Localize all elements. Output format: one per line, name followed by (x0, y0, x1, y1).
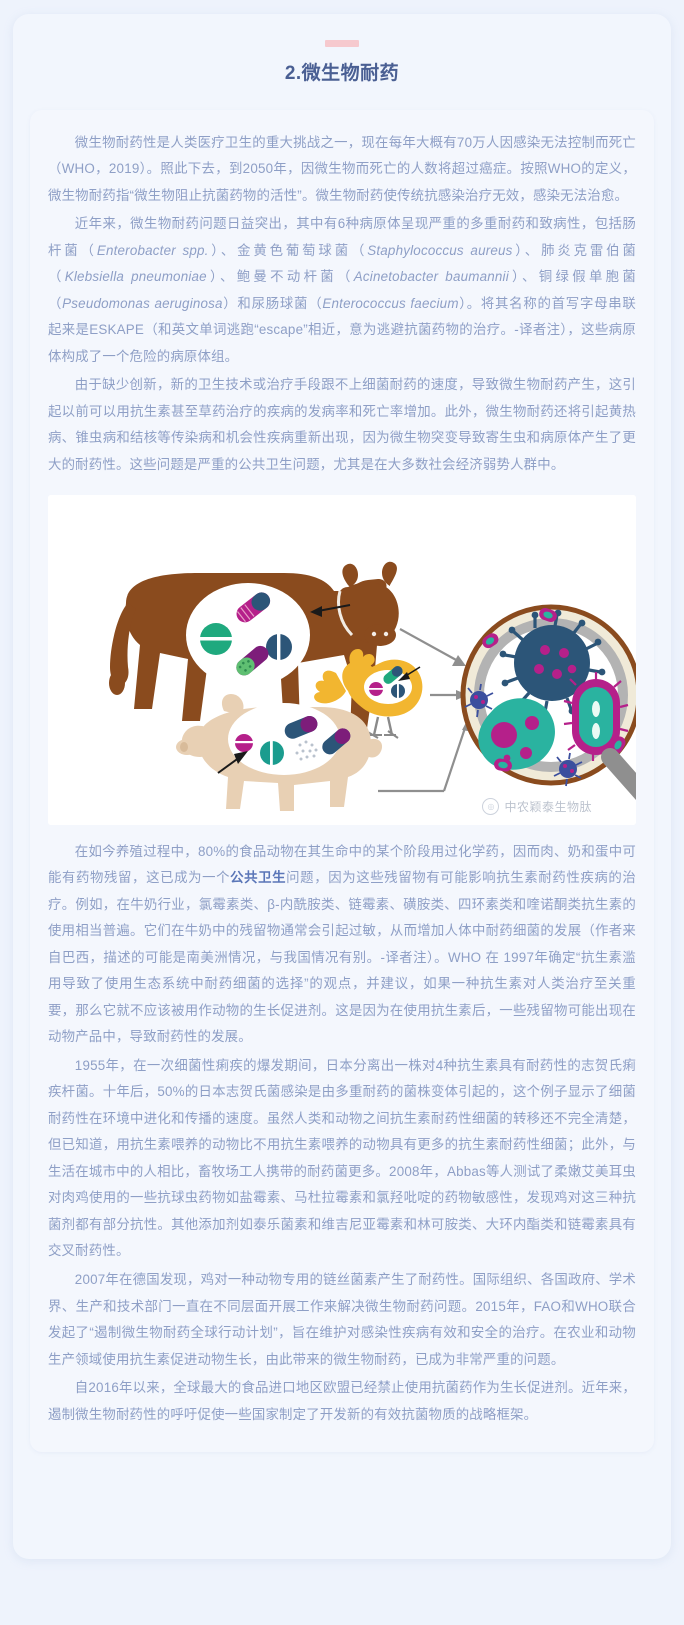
article-card: 2.微生物耐药 微生物耐药性是人类医疗卫生的重大挑战之一，现在每年大概有70万人… (13, 14, 671, 1559)
paragraph-4-highlight: 在如今养殖过程中，80%的食品动物在其生命中的某个阶段用过化学药，因而肉、奶和蛋… (48, 839, 636, 1051)
watermark-logo-icon: ◎ (482, 798, 499, 815)
paragraph-5: 1955年，在一次细菌性痢疾的爆发期间，日本分离出一株对4种抗生素具有耐药性的志… (48, 1053, 636, 1265)
latin-species-name: Staphylococcus aureus (367, 243, 512, 258)
watermark-text: 中农颖泰生物肽 (504, 798, 592, 815)
paragraph-6: 2007年在德国发现，鸡对一种动物专用的链丝菌素产生了耐药性。国际组织、各国政府… (48, 1267, 636, 1373)
paragraph-3: 由于缺少创新，新的卫生技术或治疗手段跟不上细菌耐药的速度，导致微生物耐药产生，这… (48, 372, 636, 478)
livestock-amr-diagram (48, 495, 636, 825)
illustration-figure: ◎ 中农颖泰生物肽 (48, 495, 636, 825)
pink-divider-icon (325, 40, 359, 47)
latin-species-name: Enterococcus faecium (322, 296, 458, 311)
body-text: ）、金黄色葡萄球菌（ (209, 243, 368, 258)
latin-species-name: Enterobacter spp. (97, 243, 209, 258)
body-text: 在如今养殖过程中， (75, 844, 198, 859)
paragraph-7: 自2016年以来，全球最大的食品进口地区欧盟已经禁止使用抗菌药作为生长促进剂。近… (48, 1375, 636, 1428)
watermark: ◎ 中农颖泰生物肽 (482, 798, 592, 815)
paragraph-2: 近年来，微生物耐药问题日益突出，其中有6种病原体呈现严重的多重耐药和致病性，包括… (48, 211, 636, 370)
emphasis-public-health: 公共卫生 (230, 870, 286, 885)
latin-species-name: Acinetobacter baumannii (354, 269, 509, 284)
body-text: ）和尿肠球菌（ (223, 296, 323, 311)
latin-species-name: Klebsiella pneumoniae (65, 269, 207, 284)
page-title: 2.微生物耐药 (13, 61, 671, 88)
article-header: 2.微生物耐药 (13, 14, 671, 88)
latin-species-name: Pseudomonas aeruginosa (62, 296, 223, 311)
body-text: 例如，在牛奶行业，氯霉素类、β-内酰胺类、链霉素、磺胺类、四环素类和喹诺酮类抗生… (48, 897, 636, 1045)
content-panel: 微生物耐药性是人类医疗卫生的重大挑战之一，现在每年大概有70万人因感染无法控制而… (30, 110, 654, 1453)
body-text: ）、鲍曼不动杆菌（ (207, 269, 354, 284)
paragraph-1: 微生物耐药性是人类医疗卫生的重大挑战之一，现在每年大概有70万人因感染无法控制而… (48, 130, 636, 210)
